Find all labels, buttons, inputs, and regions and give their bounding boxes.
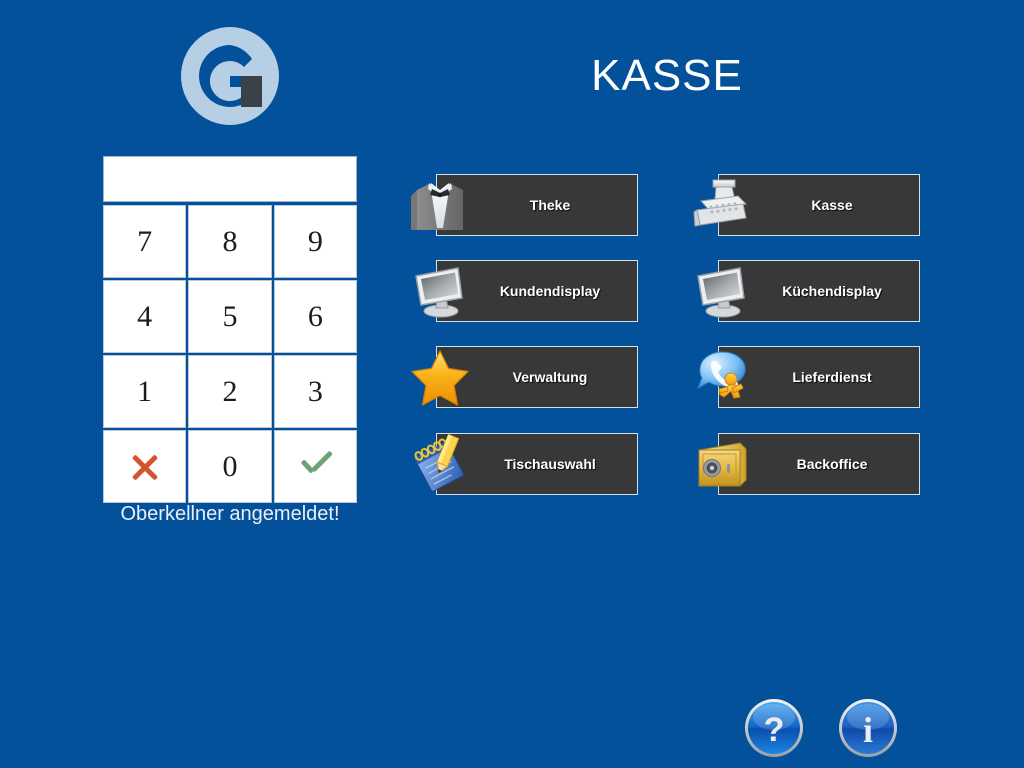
key-4[interactable]: 4 — [103, 280, 186, 353]
help-button-glyph: ? — [764, 711, 785, 749]
key-3-label: 3 — [308, 375, 323, 409]
key-1[interactable]: 1 — [103, 355, 186, 428]
key-2-label: 2 — [222, 375, 237, 409]
key-9-label: 9 — [308, 225, 323, 259]
gastro-g-logo — [181, 27, 279, 125]
button-theke[interactable]: Theke — [436, 174, 638, 236]
status-message: Oberkellner angemeldet! — [103, 501, 357, 527]
check-icon — [297, 452, 333, 482]
delivery-phone-runner-icon — [691, 346, 753, 408]
button-theke-label: Theke — [471, 175, 629, 235]
button-kasse[interactable]: Kasse — [718, 174, 920, 236]
button-tischauswahl[interactable]: Tischauswahl — [436, 433, 638, 495]
button-backoffice[interactable]: Backoffice — [718, 433, 920, 495]
kasse-main-screen: KASSE 7 8 9 4 5 6 1 2 3 0 Oberkellner an… — [0, 0, 1024, 768]
key-0-label: 0 — [222, 450, 237, 484]
key-0[interactable]: 0 — [188, 430, 271, 503]
button-lieferdienst-label: Lieferdienst — [753, 347, 911, 407]
monitor-icon — [691, 260, 753, 322]
key-2[interactable]: 2 — [188, 355, 271, 428]
key-8-label: 8 — [222, 225, 237, 259]
star-icon — [409, 346, 471, 408]
key-4-label: 4 — [137, 300, 152, 334]
waiter-tuxedo-icon — [409, 174, 471, 236]
cash-register-icon — [691, 174, 753, 236]
key-5[interactable]: 5 — [188, 280, 271, 353]
button-verwaltung-label: Verwaltung — [471, 347, 629, 407]
info-button-glyph: i — [863, 710, 873, 750]
monitor-icon — [409, 260, 471, 322]
keypad-grid: 7 8 9 4 5 6 1 2 3 0 — [103, 205, 357, 503]
key-1-label: 1 — [137, 375, 152, 409]
button-tischauswahl-label: Tischauswahl — [471, 434, 629, 494]
key-3[interactable]: 3 — [274, 355, 357, 428]
notepad-pencil-icon — [409, 433, 471, 495]
key-7[interactable]: 7 — [103, 205, 186, 278]
button-kuechendisplay-label: Küchendisplay — [753, 261, 911, 321]
button-kuechendisplay[interactable]: Küchendisplay — [718, 260, 920, 322]
key-5-label: 5 — [222, 300, 237, 334]
key-cancel[interactable] — [103, 430, 186, 503]
button-kundendisplay[interactable]: Kundendisplay — [436, 260, 638, 322]
button-backoffice-label: Backoffice — [753, 434, 911, 494]
button-kundendisplay-label: Kundendisplay — [471, 261, 629, 321]
button-lieferdienst[interactable]: Lieferdienst — [718, 346, 920, 408]
key-7-label: 7 — [137, 225, 152, 259]
key-9[interactable]: 9 — [274, 205, 357, 278]
numeric-keypad: 7 8 9 4 5 6 1 2 3 0 — [103, 156, 357, 503]
key-6-label: 6 — [308, 300, 323, 334]
key-6[interactable]: 6 — [274, 280, 357, 353]
keypad-display-field[interactable] — [103, 156, 357, 202]
key-8[interactable]: 8 — [188, 205, 271, 278]
safe-icon — [691, 433, 753, 495]
info-button[interactable]: i — [838, 698, 898, 758]
help-button[interactable]: ? — [744, 698, 804, 758]
button-verwaltung[interactable]: Verwaltung — [436, 346, 638, 408]
x-icon — [128, 450, 162, 484]
button-kasse-label: Kasse — [753, 175, 911, 235]
page-title: KASSE — [430, 47, 904, 105]
key-confirm[interactable] — [274, 430, 357, 503]
